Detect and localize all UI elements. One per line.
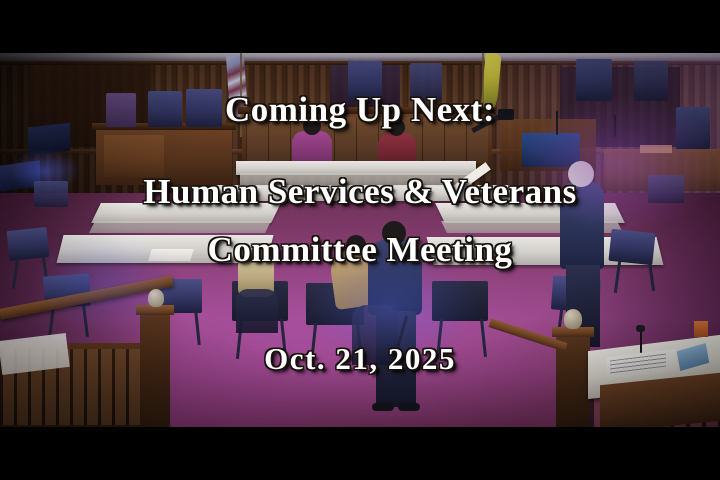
- letterbox-bar-bottom: [0, 427, 720, 480]
- video-scene: [0, 53, 720, 427]
- broadcast-title-card: Coming Up Next: Human Services & Veteran…: [0, 0, 720, 480]
- video-vignette: [0, 53, 720, 427]
- letterbox-bar-top: [0, 0, 720, 53]
